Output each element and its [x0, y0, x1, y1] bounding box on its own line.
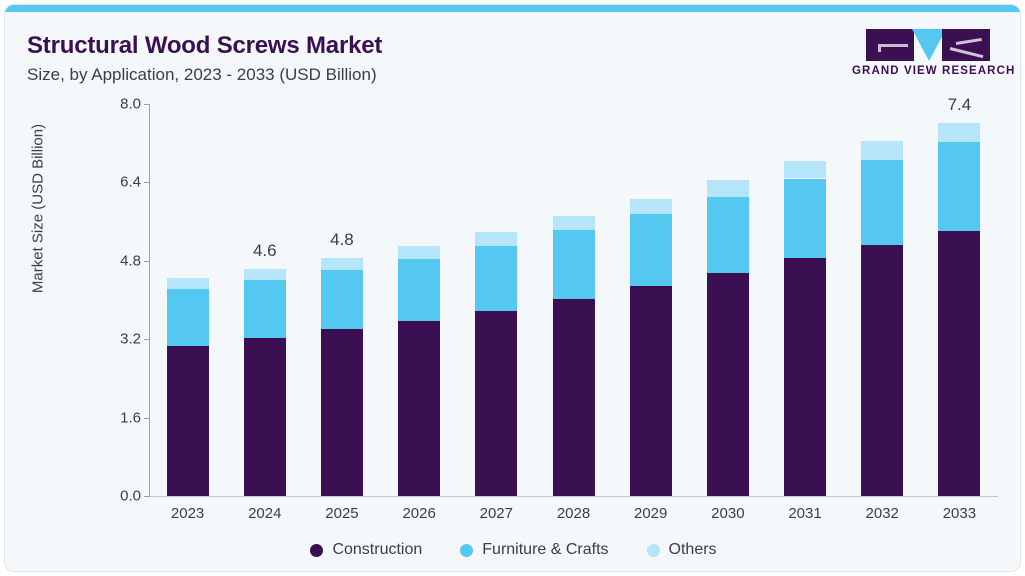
legend-item-label: Construction: [332, 541, 422, 559]
x-tick-label: 2033: [919, 505, 999, 522]
bar-group[interactable]: [630, 104, 672, 496]
bar-value-label: 4.8: [330, 230, 354, 250]
legend-item[interactable]: Construction: [310, 541, 422, 559]
bar-segment-construction[interactable]: [167, 346, 209, 496]
bar-group[interactable]: [475, 104, 517, 496]
legend-swatch-icon: [647, 544, 660, 557]
x-tick-label: 2032: [842, 505, 922, 522]
bar-segment-furniture[interactable]: [938, 142, 980, 231]
bar-segment-others[interactable]: [784, 161, 826, 179]
bar-segment-furniture[interactable]: [553, 230, 595, 298]
x-tick-label: 2024: [225, 505, 305, 522]
x-tick-label: 2030: [688, 505, 768, 522]
bar-segment-furniture[interactable]: [244, 280, 286, 338]
bar-segment-construction[interactable]: [398, 321, 440, 496]
x-tick-label: 2029: [611, 505, 691, 522]
bar-value-label: 7.4: [948, 95, 972, 115]
bar-segment-construction[interactable]: [938, 231, 980, 496]
bar-group[interactable]: 7.4: [938, 104, 980, 496]
legend-item[interactable]: Others: [647, 541, 717, 559]
bar-group[interactable]: [398, 104, 440, 496]
bar-segment-furniture[interactable]: [861, 160, 903, 245]
bar-group[interactable]: [707, 104, 749, 496]
bar-group[interactable]: 4.8: [321, 104, 363, 496]
bar-segment-furniture[interactable]: [167, 289, 209, 346]
bar-segment-others[interactable]: [321, 258, 363, 270]
bar-segment-construction[interactable]: [475, 311, 517, 496]
bar-segment-construction[interactable]: [784, 258, 826, 496]
bar-segment-others[interactable]: [938, 123, 980, 142]
bar-segment-others[interactable]: [553, 216, 595, 231]
legend-item-label: Furniture & Crafts: [482, 541, 608, 559]
x-tick-label: 2027: [456, 505, 536, 522]
x-tick-label: 2028: [534, 505, 614, 522]
x-tick-label: 2025: [302, 505, 382, 522]
bar-segment-furniture[interactable]: [630, 214, 672, 286]
y-tick-label: 4.8: [97, 252, 141, 269]
y-tick-label: 1.6: [97, 409, 141, 426]
x-axis-line: [149, 496, 998, 497]
bar-value-label: 4.6: [253, 241, 277, 261]
y-tick-label: 3.2: [97, 331, 141, 348]
bar-group[interactable]: [167, 104, 209, 496]
y-tick-label: 8.0: [97, 96, 141, 113]
bar-segment-others[interactable]: [707, 180, 749, 197]
legend-swatch-icon: [310, 544, 323, 557]
bar-segment-furniture[interactable]: [475, 246, 517, 311]
bar-segment-construction[interactable]: [707, 273, 749, 496]
plot-area: 4.64.87.4: [149, 104, 998, 496]
bar-segment-others[interactable]: [861, 141, 903, 160]
x-tick-label: 2026: [379, 505, 459, 522]
bar-segment-others[interactable]: [630, 199, 672, 215]
chart-card: Structural Wood Screws Market Size, by A…: [4, 4, 1021, 572]
bar-segment-construction[interactable]: [630, 286, 672, 496]
bar-segment-others[interactable]: [244, 269, 286, 280]
y-tick-label: 0.0: [97, 488, 141, 505]
bar-group[interactable]: [861, 104, 903, 496]
legend-item[interactable]: Furniture & Crafts: [460, 541, 608, 559]
bar-group[interactable]: [784, 104, 826, 496]
chart-legend: ConstructionFurniture & CraftsOthers: [5, 541, 1021, 559]
bar-segment-others[interactable]: [398, 246, 440, 259]
legend-item-label: Others: [669, 541, 717, 559]
bar-segment-construction[interactable]: [321, 329, 363, 496]
x-tick-label: 2023: [148, 505, 228, 522]
bar-segment-furniture[interactable]: [321, 270, 363, 329]
bar-segment-furniture[interactable]: [784, 179, 826, 259]
bar-segment-construction[interactable]: [553, 299, 595, 496]
bar-segment-others[interactable]: [475, 232, 517, 246]
y-axis-title: Market Size (USD Billion): [30, 84, 47, 334]
bar-segment-furniture[interactable]: [707, 197, 749, 273]
bar-group[interactable]: 4.6: [244, 104, 286, 496]
x-tick-label: 2031: [765, 505, 845, 522]
bar-segment-construction[interactable]: [244, 338, 286, 496]
bar-segment-others[interactable]: [167, 278, 209, 289]
y-tick-label: 6.4: [97, 174, 141, 191]
bar-segment-furniture[interactable]: [398, 259, 440, 321]
bar-segment-construction[interactable]: [861, 245, 903, 496]
bar-group[interactable]: [553, 104, 595, 496]
y-tick-mark: [144, 496, 150, 497]
legend-swatch-icon: [460, 544, 473, 557]
stacked-bar-chart: Market Size (USD Billion) 0.01.63.24.86.…: [5, 5, 1021, 572]
